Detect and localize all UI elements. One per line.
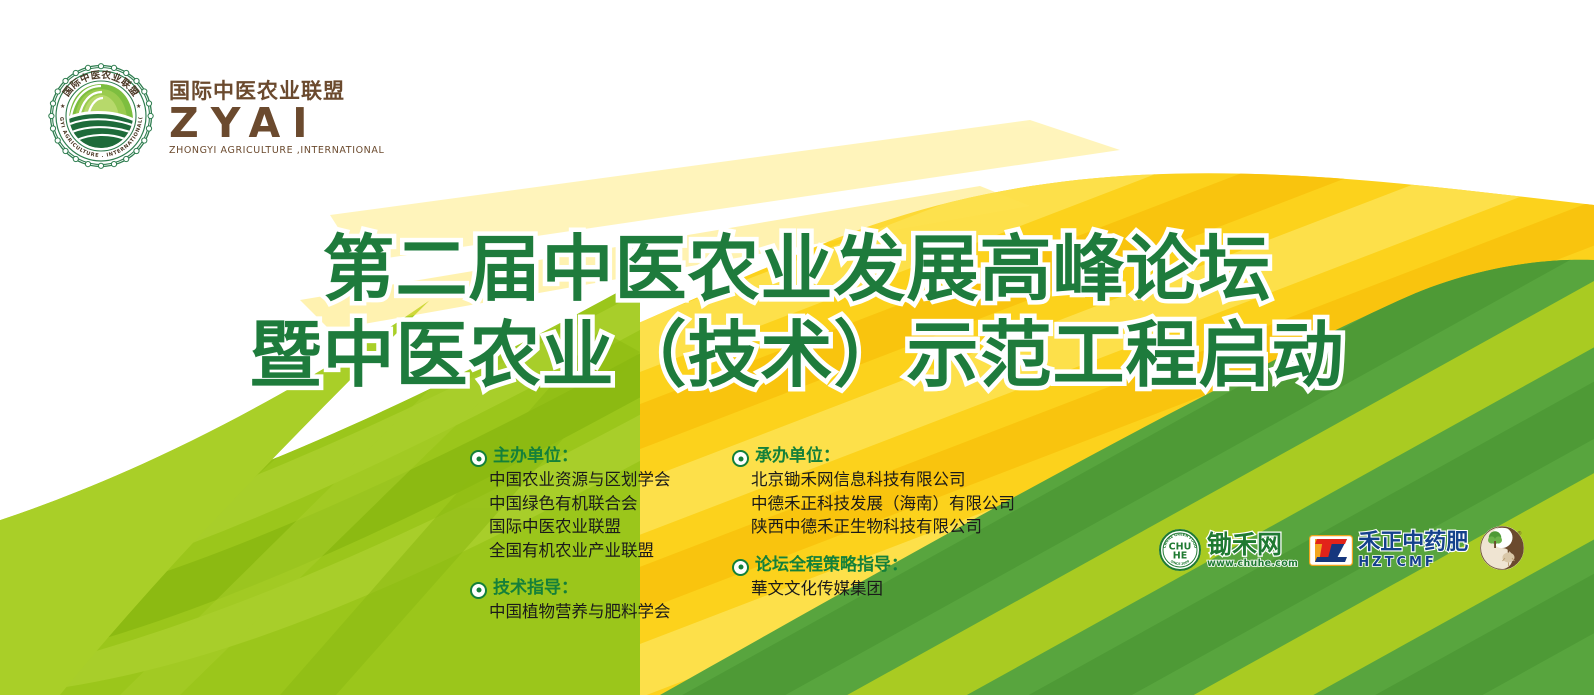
tree-root-circular-seal-icon: ® [1479,525,1525,575]
credit-group-strategy-guidance: 论坛全程策略指导： 華文文化传媒集团 [732,555,1032,601]
credit-heading: 主办单位： [493,446,578,467]
ring-dot-bullet-icon [732,450,749,467]
sponsor-chuhe: CHUHE GREEN FOOD SINCE 2009 CHU HE 锄禾网 w… [1158,528,1298,572]
credit-group-technical-guidance: 技术指导： 中国植物营养与肥料学会 [470,578,732,624]
credit-item: 中国绿色有机联合会 [489,492,732,515]
hz-z-mark-icon [1309,535,1353,566]
chuhe-circular-seal-icon: CHUHE GREEN FOOD SINCE 2009 CHU HE [1158,528,1202,572]
zyai-wordmark: 国际中医农业联盟 ZYAI ZHONGYI AGRICULTURE ,INTER… [169,76,384,156]
credit-heading: 技术指导： [493,578,578,599]
zyai-logo-lockup: 国际中医农业联盟 ZHONGYI AGRICULTURE . INTERNATI… [47,62,384,170]
credit-item: 中国农业资源与区划学会 [489,468,732,491]
credits-column-right: 承办单位： 北京锄禾网信息科技有限公司 中德禾正科技发展（海南）有限公司 陕西中… [732,446,1032,624]
credit-group-organizers: 主办单位： 中国农业资源与区划学会 中国绿色有机联合会 国际中医农业联盟 全国有… [470,446,732,562]
credit-heading: 承办单位： [755,446,840,467]
credit-item: 華文文化传媒集团 [751,577,1032,600]
credits-block: 主办单位： 中国农业资源与区划学会 中国绿色有机联合会 国际中医农业联盟 全国有… [470,446,1032,624]
zyai-circular-emblem-icon: 国际中医农业联盟 ZHONGYI AGRICULTURE . INTERNATI… [47,62,155,170]
svg-text:★: ★ [136,103,141,110]
hztcmf-acronym: HZTCMF [1358,556,1468,569]
sponsor-hztcmf: 禾正中药肥 HZTCMF [1309,532,1468,569]
event-banner: 国际中医农业联盟 ZHONGYI AGRICULTURE . INTERNATI… [0,0,1594,695]
credit-item: 中德禾正科技发展（海南）有限公司 [751,492,1032,515]
zyai-name-en: ZHONGYI AGRICULTURE ,INTERNATIONAL [169,146,384,156]
credit-item: 中国植物营养与肥料学会 [489,600,732,623]
credit-item: 陕西中德禾正生物科技有限公司 [751,515,1032,538]
credit-group-co-organizers: 承办单位： 北京锄禾网信息科技有限公司 中德禾正科技发展（海南）有限公司 陕西中… [732,446,1032,539]
credit-item: 全国有机农业产业联盟 [489,539,732,562]
svg-text:®: ® [1517,530,1522,537]
svg-text:★: ★ [60,103,65,110]
credit-item: 国际中医农业联盟 [489,515,732,538]
svg-text:HE: HE [1173,551,1187,562]
sponsor-tree-seal: ® [1479,527,1525,573]
credits-column-left: 主办单位： 中国农业资源与区划学会 中国绿色有机联合会 国际中医农业联盟 全国有… [470,446,732,624]
credit-heading: 论坛全程策略指导： [755,555,908,576]
chuhe-name: 锄禾网 [1207,532,1298,557]
sponsor-logo-strip: CHUHE GREEN FOOD SINCE 2009 CHU HE 锄禾网 w… [1158,527,1525,573]
zyai-acronym: ZYAI [169,103,384,144]
ring-dot-bullet-icon [470,450,487,467]
hztcmf-name: 禾正中药肥 [1358,532,1468,554]
ring-dot-bullet-icon [732,559,749,576]
credit-item: 北京锄禾网信息科技有限公司 [751,468,1032,491]
chuhe-url: www.chuhe.com [1207,559,1298,569]
ring-dot-bullet-icon [470,582,487,599]
